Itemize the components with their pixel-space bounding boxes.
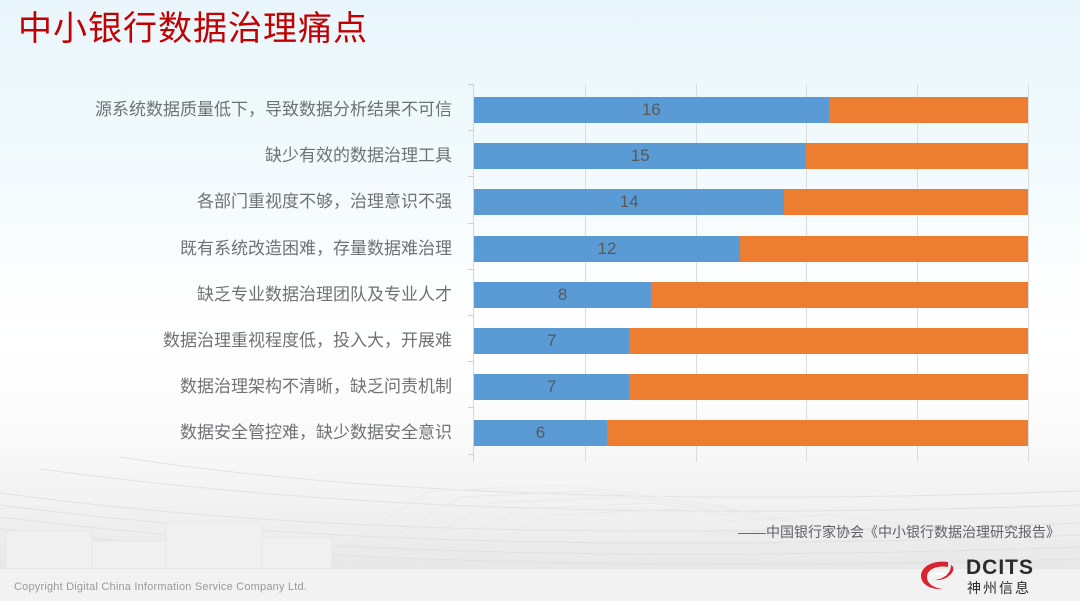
category-label: 各部门重视度不够，治理意识不强 bbox=[197, 189, 452, 215]
axis-tick bbox=[468, 176, 474, 177]
plot-area: 161514128776 bbox=[474, 84, 1028, 458]
bar-value-label: 7 bbox=[474, 328, 629, 354]
category-label: 缺少有效的数据治理工具 bbox=[265, 143, 452, 169]
bar-segment bbox=[629, 374, 1028, 400]
dcits-swirl-icon bbox=[918, 559, 960, 593]
gridline bbox=[1028, 84, 1029, 462]
axis-tick bbox=[468, 407, 474, 408]
bar-value-label: 7 bbox=[474, 374, 629, 400]
category-label: 缺乏专业数据治理团队及专业人才 bbox=[197, 282, 452, 308]
slide-title: 中小银行数据治理痛点 bbox=[18, 6, 368, 52]
gridline bbox=[917, 84, 918, 462]
category-label: 数据治理重视程度低，投入大，开展难 bbox=[163, 328, 452, 354]
bar-row: 14 bbox=[474, 189, 1028, 215]
axis-tick bbox=[468, 315, 474, 316]
bar-segment bbox=[806, 143, 1028, 169]
axis-tick bbox=[468, 454, 474, 455]
gridline bbox=[585, 84, 586, 462]
category-label: 源系统数据质量低下，导致数据分析结果不可信 bbox=[95, 97, 452, 123]
bar-segment bbox=[651, 282, 1028, 308]
bar-row: 16 bbox=[474, 97, 1028, 123]
axis-tick bbox=[468, 130, 474, 131]
bar-row: 12 bbox=[474, 236, 1028, 262]
bar-value-label: 14 bbox=[474, 189, 784, 215]
bar-row: 8 bbox=[474, 282, 1028, 308]
axis-tick bbox=[468, 84, 474, 85]
bar-value-label: 16 bbox=[474, 97, 829, 123]
bar-row: 15 bbox=[474, 143, 1028, 169]
logo-wordmark: DCITS bbox=[966, 556, 1034, 580]
bar-segment bbox=[607, 420, 1028, 446]
copyright-text: Copyright Digital China Information Serv… bbox=[14, 581, 307, 593]
bar-row: 7 bbox=[474, 328, 1028, 354]
value-axis-line bbox=[473, 84, 474, 462]
dcits-logo: DCITS 神州信息 bbox=[910, 553, 1070, 597]
axis-tick bbox=[468, 361, 474, 362]
logo-chinese-name: 神州信息 bbox=[967, 578, 1031, 598]
bar-value-label: 15 bbox=[474, 143, 806, 169]
gridline bbox=[806, 84, 807, 462]
bar-row: 6 bbox=[474, 420, 1028, 446]
bar-segment bbox=[829, 97, 1028, 123]
bar-value-label: 8 bbox=[474, 282, 651, 308]
category-label: 既有系统改造困难，存量数据难治理 bbox=[180, 236, 452, 262]
stacked-bar-chart: 源系统数据质量低下，导致数据分析结果不可信缺少有效的数据治理工具各部门重视度不够… bbox=[0, 84, 1060, 472]
gridline bbox=[696, 84, 697, 462]
category-label: 数据治理架构不清晰，缺乏问责机制 bbox=[180, 374, 452, 400]
bar-row: 7 bbox=[474, 374, 1028, 400]
category-label: 数据安全管控难，缺少数据安全意识 bbox=[180, 420, 452, 446]
axis-tick bbox=[468, 223, 474, 224]
slide-background: 中小银行数据治理痛点 源系统数据质量低下，导致数据分析结果不可信缺少有效的数据治… bbox=[0, 0, 1080, 601]
source-attribution: ——中国银行家协会《中小银行数据治理研究报告》 bbox=[738, 522, 1060, 542]
bar-segment bbox=[629, 328, 1028, 354]
bar-value-label: 6 bbox=[474, 420, 607, 446]
bar-segment bbox=[784, 189, 1028, 215]
bar-value-label: 12 bbox=[474, 236, 740, 262]
bar-segment bbox=[740, 236, 1028, 262]
axis-tick bbox=[468, 269, 474, 270]
category-axis-labels: 源系统数据质量低下，导致数据分析结果不可信缺少有效的数据治理工具各部门重视度不够… bbox=[0, 84, 462, 458]
